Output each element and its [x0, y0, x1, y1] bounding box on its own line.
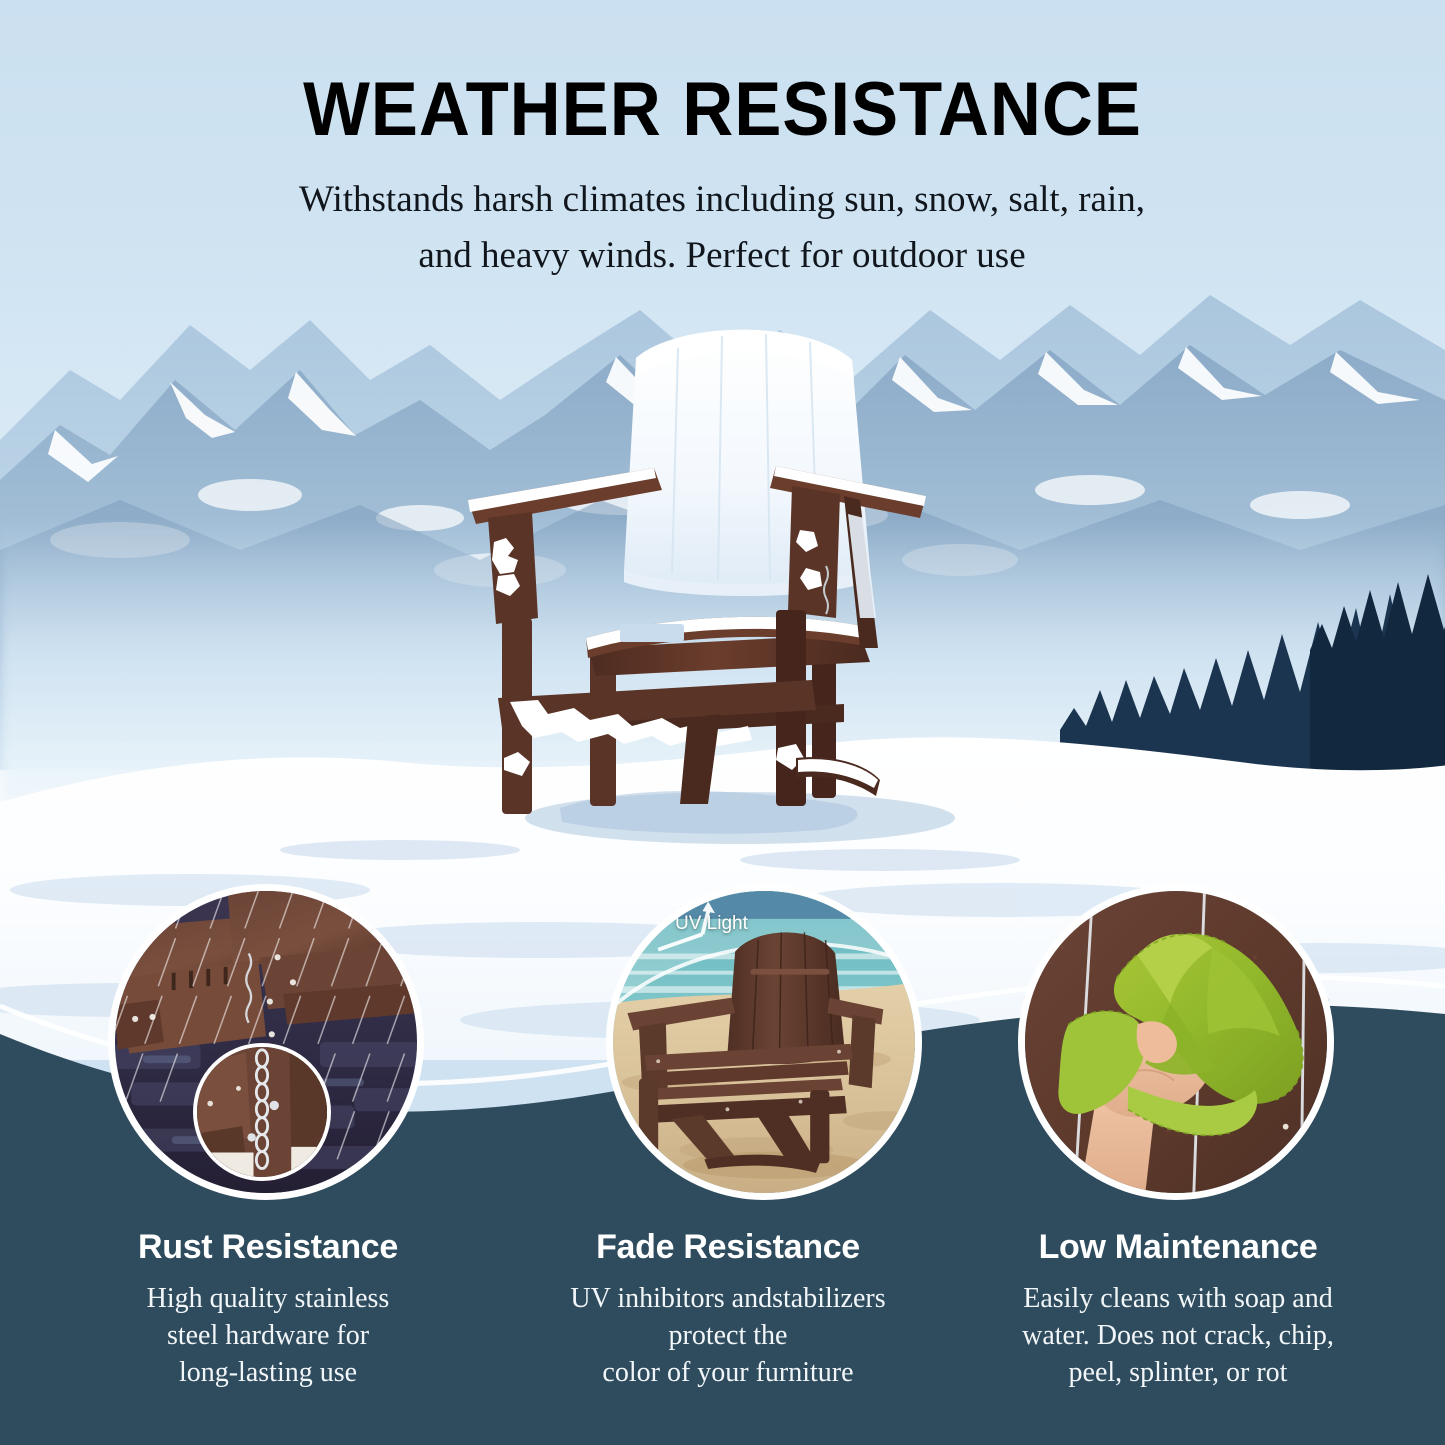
feature-image-fade-resistance: UV Light	[606, 884, 922, 1200]
feature-body-low-maintenance: Easily cleans with soap and water. Does …	[968, 1280, 1388, 1392]
feature-body-line-1: UV inhibitors andstabilizers	[570, 1283, 885, 1314]
feature-body-line-2: protect the	[669, 1320, 788, 1351]
feature-body-rust-resistance: High quality stainless steel hardware fo…	[78, 1280, 458, 1392]
feature-body-line-3: long-lasting use	[179, 1357, 357, 1388]
feature-body-line-1: High quality stainless	[147, 1283, 390, 1314]
stainless-chain-closeup	[197, 1047, 327, 1177]
feature-body-fade-resistance: UV inhibitors andstabilizers protect the…	[528, 1280, 928, 1392]
feature-title-low-maintenance: Low Maintenance	[968, 1228, 1388, 1267]
feature-body-line-3: peel, splinter, or rot	[1069, 1357, 1288, 1388]
chain-closeup-inset	[193, 1043, 331, 1181]
feature-title-fade-resistance: Fade Resistance	[528, 1228, 928, 1267]
feature-body-line-3: color of your furniture	[602, 1357, 853, 1388]
feature-caption-fade-resistance: Fade Resistance UV inhibitors andstabili…	[528, 1228, 928, 1392]
feature-body-line-2: water. Does not crack, chip,	[1022, 1320, 1334, 1351]
feature-image-rust-resistance	[108, 884, 424, 1200]
uv-light-label: UV Light	[675, 913, 748, 935]
feature-title-rust-resistance: Rust Resistance	[78, 1228, 458, 1267]
beach-chair-uv-photo	[612, 890, 916, 1194]
feature-body-line-1: Easily cleans with soap and	[1023, 1283, 1332, 1314]
feature-caption-low-maintenance: Low Maintenance Easily cleans with soap …	[968, 1228, 1388, 1392]
feature-caption-rust-resistance: Rust Resistance High quality stainless s…	[78, 1228, 458, 1392]
cleaning-cloth-photo	[1024, 890, 1328, 1194]
product-infographic: WEATHER RESISTANCE Withstands harsh clim…	[0, 0, 1445, 1445]
feature-image-low-maintenance	[1018, 884, 1334, 1200]
feature-body-line-2: steel hardware for	[167, 1320, 369, 1351]
